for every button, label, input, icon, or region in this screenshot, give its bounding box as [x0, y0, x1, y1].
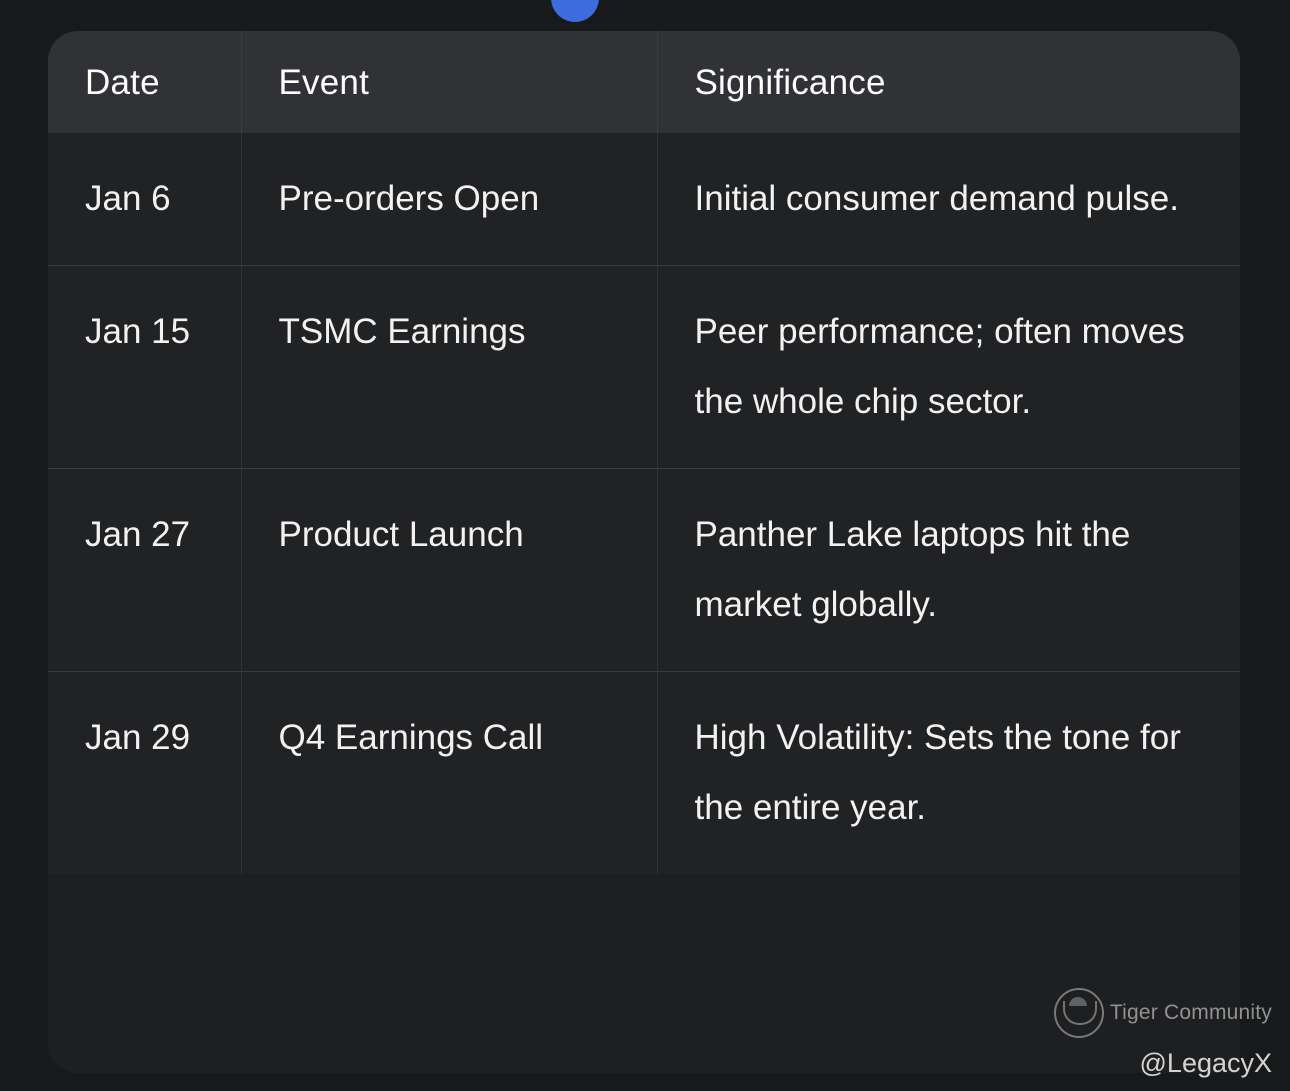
- cell-date: Jan 15: [48, 266, 241, 469]
- column-header-significance[interactable]: Significance: [657, 31, 1240, 133]
- table-header: Date Event Significance: [48, 31, 1240, 133]
- table-row: Jan 27 Product Launch Panther Lake lapto…: [48, 469, 1240, 672]
- cell-date: Jan 27: [48, 469, 241, 672]
- column-header-event[interactable]: Event: [241, 31, 657, 133]
- cell-event: Pre-orders Open: [241, 133, 657, 266]
- cell-significance: Panther Lake laptops hit the market glob…: [657, 469, 1240, 672]
- table-header-row: Date Event Significance: [48, 31, 1240, 133]
- column-header-date[interactable]: Date: [48, 31, 241, 133]
- cell-event: Q4 Earnings Call: [241, 672, 657, 875]
- top-avatar-bubble: [551, 0, 599, 22]
- table-row: Jan 29 Q4 Earnings Call High Volatility:…: [48, 672, 1240, 875]
- schedule-table-card: Date Event Significance Jan 6 Pre-orders…: [48, 31, 1240, 1073]
- table-row: Jan 15 TSMC Earnings Peer performance; o…: [48, 266, 1240, 469]
- cell-date: Jan 6: [48, 133, 241, 266]
- table-row: Jan 6 Pre-orders Open Initial consumer d…: [48, 133, 1240, 266]
- cell-event: TSMC Earnings: [241, 266, 657, 469]
- table-body: Jan 6 Pre-orders Open Initial consumer d…: [48, 133, 1240, 874]
- cell-significance: Peer performance; often moves the whole …: [657, 266, 1240, 469]
- cell-event: Product Launch: [241, 469, 657, 672]
- cell-significance: High Volatility: Sets the tone for the e…: [657, 672, 1240, 875]
- cell-date: Jan 29: [48, 672, 241, 875]
- schedule-table: Date Event Significance Jan 6 Pre-orders…: [48, 31, 1240, 874]
- cell-significance: Initial consumer demand pulse.: [657, 133, 1240, 266]
